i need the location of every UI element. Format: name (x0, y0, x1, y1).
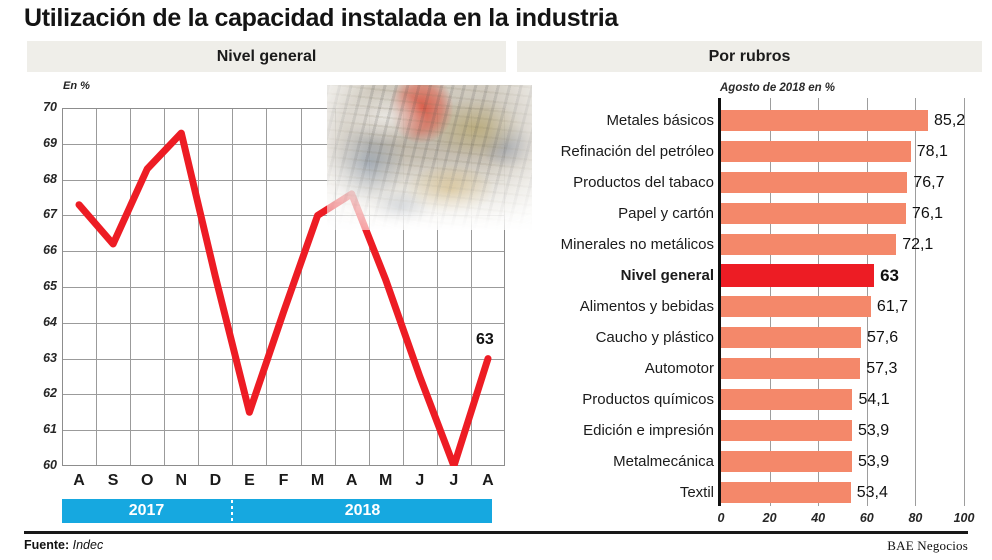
footer-source-value: Indec (73, 538, 104, 552)
bar-chart-subtitle: Agosto de 2018 en % (720, 82, 835, 94)
line-chart-y-tick: 65 (27, 279, 57, 293)
bar-chart-value-label: 85,2 (934, 105, 965, 136)
line-chart-x-tick: M (301, 472, 335, 490)
year-band-2017: 2017 (62, 499, 231, 523)
bar-chart-row[interactable]: Nivel general63 (517, 260, 982, 291)
bar-chart-value-label: 61,7 (877, 291, 908, 322)
bar-chart-row[interactable]: Productos químicos54,1 (517, 384, 982, 415)
line-chart-y-tick: 67 (27, 207, 57, 221)
bar-chart-row[interactable]: Alimentos y bebidas61,7 (517, 291, 982, 322)
bar-chart-bar[interactable] (721, 234, 896, 255)
bar-chart-value-label: 57,6 (867, 322, 898, 353)
bar-chart-value-label: 54,1 (858, 384, 889, 415)
bar-chart-bar[interactable] (721, 203, 906, 224)
bar-chart-bar[interactable] (721, 389, 852, 410)
bar-chart-row[interactable]: Minerales no metálicos72,1 (517, 229, 982, 260)
bar-chart-x-tick: 100 (944, 511, 984, 525)
line-chart-polyline (79, 133, 488, 466)
page-title: Utilización de la capacidad instalada en… (24, 4, 618, 33)
line-chart-y-tick: 61 (27, 422, 57, 436)
bar-chart-bar[interactable] (721, 451, 852, 472)
bar-chart-value-label: 72,1 (902, 229, 933, 260)
bar-chart-bar[interactable] (721, 172, 907, 193)
footer-brand: BAE Negocios (887, 538, 968, 554)
bar-chart-category-label: Refinación del petróleo (561, 136, 714, 167)
footer-rule (24, 531, 968, 534)
line-chart-x-tick: A (335, 472, 369, 490)
line-chart-y-tick: 62 (27, 386, 57, 400)
bar-chart-value-label: 78,1 (917, 136, 948, 167)
bar-chart-x-tick: 60 (847, 511, 887, 525)
bar-chart-bar[interactable] (721, 482, 851, 503)
bar-chart-row[interactable]: Productos del tabaco76,7 (517, 167, 982, 198)
bar-chart-x-tick: 80 (895, 511, 935, 525)
bar-chart-row[interactable]: Papel y cartón76,1 (517, 198, 982, 229)
line-chart-y-tick: 68 (27, 172, 57, 186)
line-chart-x-tick: J (437, 472, 471, 490)
bar-chart-bar[interactable] (721, 296, 871, 317)
line-chart-series (62, 108, 505, 466)
line-chart-y-tick: 69 (27, 136, 57, 150)
bar-chart-row[interactable]: Automotor57,3 (517, 353, 982, 384)
line-chart-y-tick: 64 (27, 315, 57, 329)
bar-chart-value-label: 57,3 (866, 353, 897, 384)
line-chart-y-tick: 63 (27, 351, 57, 365)
panel-header-nivel-general: Nivel general (27, 41, 506, 72)
line-chart-unit-label: En % (63, 80, 90, 92)
bar-chart-category-label: Caucho y plástico (596, 322, 714, 353)
bar-chart-row[interactable]: Refinación del petróleo78,1 (517, 136, 982, 167)
line-chart-x-tick: A (471, 472, 505, 490)
bar-chart-row[interactable]: Metalmecánica53,9 (517, 446, 982, 477)
line-chart-x-tick: J (403, 472, 437, 490)
bar-chart-value-label: 53,9 (858, 415, 889, 446)
line-chart-x-tick: N (164, 472, 198, 490)
bar-chart-bar[interactable] (721, 264, 874, 287)
line-chart-y-tick: 66 (27, 243, 57, 257)
bar-chart-value-label: 53,9 (858, 446, 889, 477)
bar-chart-panel: Agosto de 2018 en % Metales básicos85,2R… (517, 80, 982, 528)
bar-chart-bar[interactable] (721, 327, 861, 348)
bar-chart-category-label: Papel y cartón (618, 198, 714, 229)
bar-chart-plot-area: Metales básicos85,2Refinación del petról… (517, 98, 982, 560)
bar-chart-category-label: Minerales no metálicos (561, 229, 714, 260)
line-chart-x-tick: A (62, 472, 96, 490)
bar-chart-category-label: Metalmecánica (613, 446, 714, 477)
bar-chart-value-label: 63 (880, 260, 899, 291)
panel-header-right-label: Por rubros (709, 48, 791, 66)
bar-chart-category-label: Nivel general (621, 260, 714, 291)
line-chart-x-tick: F (267, 472, 301, 490)
bar-chart-value-label: 76,1 (912, 198, 943, 229)
bar-chart-category-label: Alimentos y bebidas (580, 291, 714, 322)
bar-chart-category-label: Edición e impresión (583, 415, 714, 446)
bar-chart-bar[interactable] (721, 141, 911, 162)
line-chart-value-label: 63 (476, 331, 494, 349)
bar-chart-row[interactable]: Caucho y plástico57,6 (517, 322, 982, 353)
footer-source-label: Fuente: (24, 538, 69, 552)
bar-chart-value-label: 76,7 (913, 167, 944, 198)
line-chart-x-tick: O (130, 472, 164, 490)
bar-chart-bar[interactable] (721, 358, 860, 379)
bar-chart-row[interactable]: Textil53,4 (517, 477, 982, 508)
panel-header-left-label: Nivel general (217, 48, 317, 66)
line-chart-y-tick: 60 (27, 458, 57, 472)
bar-chart-row[interactable]: Metales básicos85,2 (517, 105, 982, 136)
bar-chart-x-tick: 0 (701, 511, 741, 525)
bar-chart-bar[interactable] (721, 110, 928, 131)
line-chart-y-tick: 70 (27, 100, 57, 114)
bar-chart-category-label: Productos químicos (582, 384, 714, 415)
panel-header-por-rubros: Por rubros (517, 41, 982, 72)
line-chart-x-tick: E (232, 472, 266, 490)
bar-chart-x-tick: 40 (798, 511, 838, 525)
footer-source: Fuente: Indec (24, 538, 103, 552)
line-chart-x-tick: M (369, 472, 403, 490)
bar-chart-category-label: Productos del tabaco (573, 167, 714, 198)
bar-chart-x-tick: 20 (750, 511, 790, 525)
bar-chart-category-label: Automotor (645, 353, 714, 384)
year-band-2018: 2018 (233, 499, 492, 523)
bar-chart-category-label: Metales básicos (606, 105, 714, 136)
infographic-root: Utilización de la capacidad instalada en… (0, 0, 992, 558)
bar-chart-value-label: 53,4 (857, 477, 888, 508)
bar-chart-bar[interactable] (721, 420, 852, 441)
year-band: 2017 2018 (62, 499, 492, 523)
line-chart-x-tick: D (198, 472, 232, 490)
bar-chart-category-label: Textil (680, 477, 714, 508)
line-chart-x-tick: S (96, 472, 130, 490)
bar-chart-row[interactable]: Edición e impresión53,9 (517, 415, 982, 446)
line-chart-panel: En % 7069686766656463626160 ASONDEFMAMJJ… (27, 80, 506, 528)
